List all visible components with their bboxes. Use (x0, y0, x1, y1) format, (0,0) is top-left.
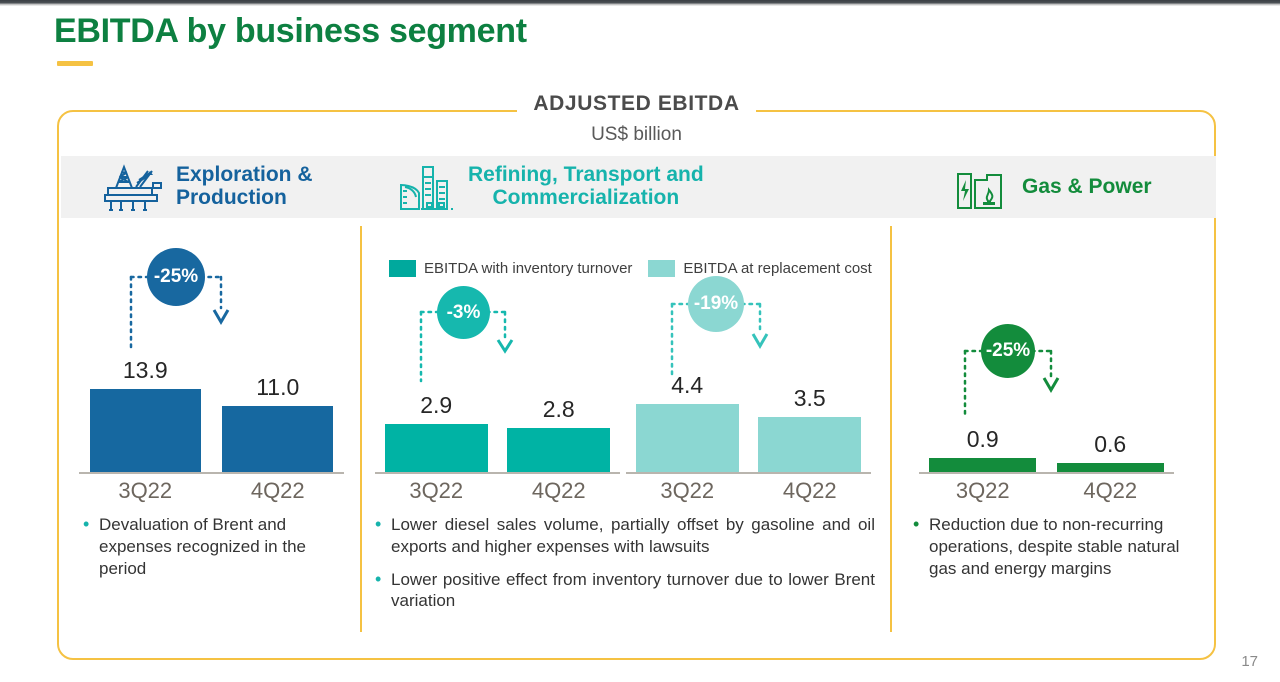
bullet-list-gas-power: • Reduction due to non-recurring operati… (913, 514, 1198, 590)
legend-label: EBITDA with inventory turnover (424, 260, 632, 277)
delta-connector-rtc-a (375, 286, 620, 396)
delta-badge-gp: -25% (981, 324, 1035, 378)
chart-rtc-inventory-turnover: -3% 2.9 (375, 286, 620, 508)
column-gas-power: -25% 0.9 (891, 218, 1216, 658)
tick-label: 3Q22 (929, 478, 1036, 504)
tick-label: 3Q22 (90, 478, 201, 504)
axis-ticks-rtc-a: 3Q22 4Q22 (375, 478, 620, 504)
chart-legend: EBITDA with inventory turnover EBITDA at… (389, 260, 872, 277)
axis-ticks-rtc-b: 3Q22 4Q22 (626, 478, 871, 504)
delta-badge-rtc-a: -3% (437, 286, 490, 339)
legend-label: EBITDA at replacement cost (683, 260, 871, 277)
axis-baseline-gp (919, 472, 1174, 474)
segment-label-line1: Refining, Transport and (468, 163, 704, 186)
axis-baseline-ep (79, 472, 344, 474)
segment-label-refining-transport-commercialization: Refining, Transport and Commercializatio… (468, 164, 704, 209)
bar-rect (90, 389, 201, 472)
segment-label-line1: Exploration & (176, 163, 313, 186)
bar-value-label: 2.8 (543, 396, 575, 423)
slide-canvas: EBITDA by business segment ADJUSTED EBIT… (0, 6, 1280, 682)
bar-value-label: 11.0 (256, 374, 299, 401)
page-number: 17 (1241, 653, 1258, 670)
list-item: • Reduction due to non-recurring operati… (913, 514, 1198, 579)
chart-ep-adjusted-ebitda: -25% 13.9 (79, 248, 344, 508)
list-item: • Devaluation of Brent and expenses reco… (83, 514, 341, 579)
bar-value-label: 2.9 (420, 392, 452, 419)
page-title: EBITDA by business segment (54, 12, 527, 51)
bar-rect (929, 458, 1036, 472)
delta-connector-rtc-b (626, 276, 871, 391)
bar-group-ep: 13.9 11.0 (79, 357, 344, 472)
bullet-dot-icon: • (375, 569, 391, 613)
segment-header-refining-transport-commercialization: Refining, Transport and Commercializatio… (361, 163, 891, 211)
segment-label-gas-power: Gas & Power (1022, 176, 1152, 199)
bar-rect (507, 428, 610, 472)
segment-label-exploration-production: Exploration & Production (176, 164, 313, 209)
bullet-text: Reduction due to non-recurring operation… (929, 514, 1198, 579)
bullet-list-exploration-production: • Devaluation of Brent and expenses reco… (83, 514, 341, 590)
tick-label: 3Q22 (385, 478, 488, 504)
tick-label: 4Q22 (1057, 478, 1164, 504)
plot-area-rtc-a: 2.9 2.8 (375, 473, 620, 474)
bar-3q22-ep: 13.9 (90, 357, 201, 472)
tick-label: 3Q22 (636, 478, 739, 504)
segment-header-exploration-production: Exploration & Production (61, 163, 361, 211)
bar-3q22-rtc-a: 2.9 (385, 392, 488, 472)
bar-4q22-rtc-a: 2.8 (507, 396, 610, 472)
segment-columns: -25% 13.9 (61, 218, 1216, 658)
list-item: • Lower diesel sales volume, partially o… (375, 514, 875, 558)
bar-4q22-rtc-b: 3.5 (758, 385, 861, 472)
list-item: • Lower positive effect from inventory t… (375, 569, 875, 613)
bar-4q22-gp: 0.6 (1057, 431, 1164, 472)
bullet-list-refining-transport-commercialization: • Lower diesel sales volume, partially o… (375, 514, 875, 623)
column-exploration-production: -25% 13.9 (61, 218, 361, 658)
segment-label-line2: Production (176, 186, 287, 209)
refinery-icon (397, 163, 457, 211)
bar-rect (1057, 463, 1164, 472)
bullet-dot-icon: • (913, 514, 929, 579)
bullet-text: Devaluation of Brent and expenses recogn… (99, 514, 341, 579)
gas-power-plant-icon (953, 164, 1011, 210)
card-subtitle: US$ billion (59, 124, 1214, 146)
bar-rect (385, 424, 488, 472)
bullet-text: Lower positive effect from inventory tur… (391, 569, 875, 613)
segment-header-band: Exploration & Production (61, 156, 1216, 218)
legend-swatch (648, 260, 675, 277)
tick-label: 4Q22 (507, 478, 610, 504)
segment-label-line2: Commercialization (492, 186, 679, 209)
bar-value-label: 0.6 (1094, 431, 1126, 458)
chart-gp-adjusted-ebitda: -25% 0.9 (919, 324, 1174, 508)
axis-baseline-rtc-a (375, 472, 620, 474)
plot-area-gp: 0.9 0.6 (919, 473, 1174, 474)
legend-item-inventory-turnover: EBITDA with inventory turnover (389, 260, 632, 277)
axis-ticks-gp: 3Q22 4Q22 (919, 478, 1174, 504)
axis-baseline-rtc-b (626, 472, 871, 474)
legend-swatch (389, 260, 416, 277)
tick-label: 4Q22 (222, 478, 333, 504)
plot-area-ep: 13.9 11.0 (79, 473, 344, 474)
bar-rect (222, 406, 333, 472)
delta-connector-ep (79, 248, 344, 368)
card-caption: ADJUSTED EBITDA (59, 92, 1214, 116)
bar-rect (758, 417, 861, 472)
plot-area-rtc-b: 4.4 3.5 (626, 473, 871, 474)
delta-badge-rtc-b: -19% (688, 276, 744, 332)
title-accent-rule (57, 61, 93, 66)
column-refining-transport-commercialization: EBITDA with inventory turnover EBITDA at… (361, 218, 891, 658)
bullet-dot-icon: • (375, 514, 391, 558)
segment-header-gas-power: Gas & Power (891, 164, 1216, 210)
bullet-dot-icon: • (83, 514, 99, 579)
axis-ticks-ep: 3Q22 4Q22 (79, 478, 344, 504)
tick-label: 4Q22 (758, 478, 861, 504)
legend-item-replacement-cost: EBITDA at replacement cost (648, 260, 871, 277)
adjusted-ebitda-card: ADJUSTED EBITDA US$ billion (57, 110, 1216, 660)
bullet-text: Lower diesel sales volume, partially off… (391, 514, 875, 558)
bar-rect (636, 404, 739, 472)
delta-connector-gp (919, 324, 1174, 434)
bar-4q22-ep: 11.0 (222, 374, 333, 472)
card-caption-text: ADJUSTED EBITDA (517, 92, 755, 116)
bar-group-rtc-a: 2.9 2.8 (375, 392, 620, 472)
delta-badge-ep: -25% (147, 248, 205, 306)
chart-rtc-replacement-cost: -19% 4.4 (626, 276, 871, 508)
oil-platform-icon (103, 163, 165, 211)
